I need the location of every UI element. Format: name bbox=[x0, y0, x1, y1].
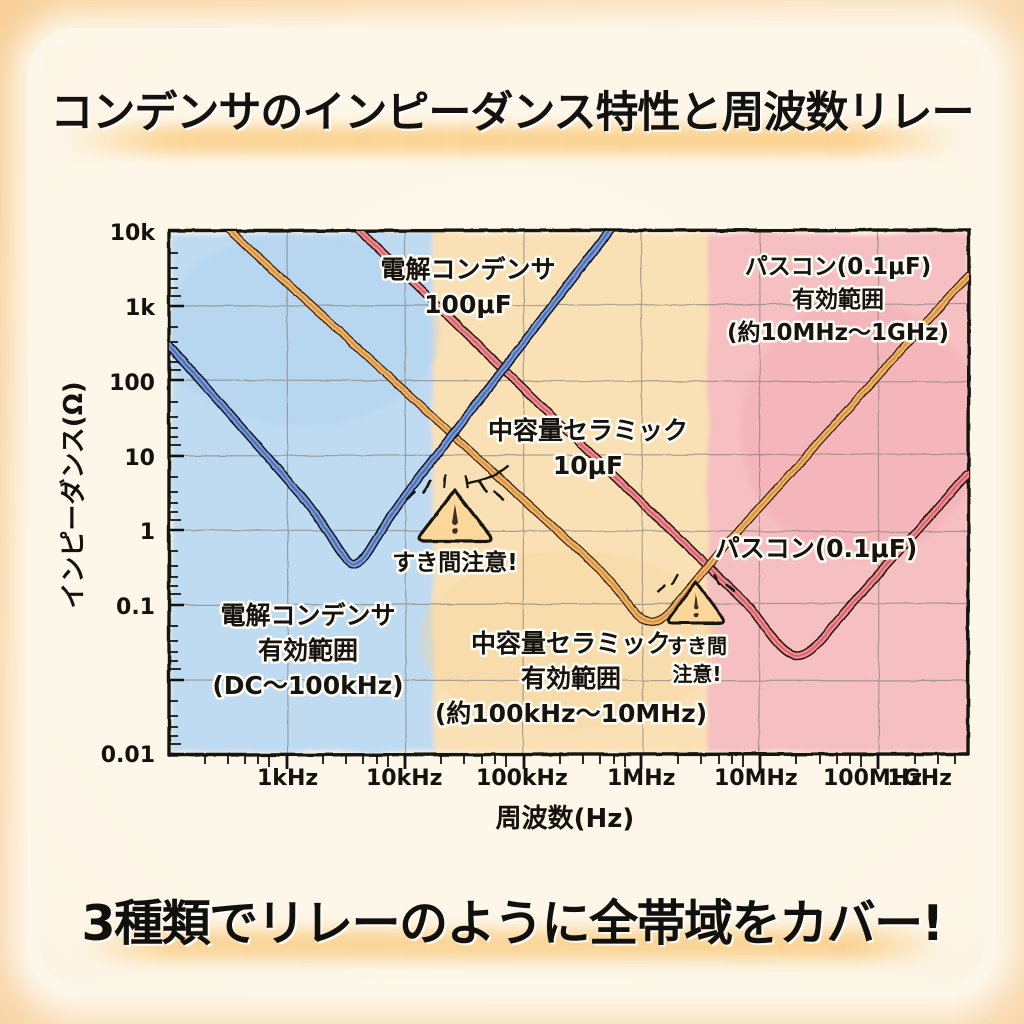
y-tick-labels: 10k 1k 100 10 1 0.1 0.01 bbox=[101, 221, 157, 768]
svg-text:(約10MHz〜1GHz): (約10MHz〜1GHz) bbox=[727, 319, 949, 346]
y-tick-0.1: 0.1 bbox=[116, 595, 155, 620]
svg-text:すき間: すき間 bbox=[667, 634, 727, 658]
svg-text:中容量セラミック: 中容量セラミック bbox=[488, 416, 688, 445]
svg-text:中容量セラミック: 中容量セラミック bbox=[471, 629, 671, 658]
x-axis-title: 周波数(Hz) bbox=[496, 804, 635, 834]
svg-text:電解コンデンサ: 電解コンデンサ bbox=[380, 255, 555, 284]
y-tick-1k: 1k bbox=[125, 296, 156, 321]
svg-text:100μF: 100μF bbox=[424, 290, 512, 319]
svg-text:(DC〜100kHz): (DC〜100kHz) bbox=[212, 671, 403, 700]
annotation-bypass-curve: パスコン(0.1μF) bbox=[715, 534, 918, 563]
y-tick-1: 1 bbox=[140, 520, 155, 545]
svg-text:パスコン(0.1μF): パスコン(0.1μF) bbox=[715, 534, 918, 563]
svg-text:有効範囲: 有効範囲 bbox=[258, 636, 358, 665]
y-tick-10: 10 bbox=[124, 446, 155, 471]
y-axis-title: インピーダンス(Ω) bbox=[58, 381, 89, 608]
svg-text:パスコン(0.1μF): パスコン(0.1μF) bbox=[745, 254, 931, 280]
x-tick-100khz: 100kHz bbox=[476, 766, 568, 791]
impedance-chart: 10k 1k 100 10 1 0.1 0.01 1kHz 10kHz 100k… bbox=[0, 0, 1024, 1024]
x-tick-10mhz: 10MHz bbox=[714, 766, 798, 791]
svg-text:(約100kHz〜10MHz): (約100kHz〜10MHz) bbox=[435, 699, 707, 728]
svg-text:電解コンデンサ: 電解コンデンサ bbox=[220, 601, 395, 630]
svg-text:有効範囲: 有効範囲 bbox=[521, 664, 621, 693]
x-tick-labels: 1kHz 10kHz 100kHz 1MHz 10MHz 100MHz 1GHz bbox=[257, 766, 952, 791]
x-tick-10khz: 10kHz bbox=[366, 766, 442, 791]
svg-text:10μF: 10μF bbox=[553, 451, 623, 480]
svg-text:注意!: 注意! bbox=[672, 662, 721, 686]
svg-text:すき間注意!: すき間注意! bbox=[392, 549, 518, 576]
y-tick-100: 100 bbox=[109, 371, 155, 396]
svg-text:有効範囲: 有効範囲 bbox=[792, 286, 884, 313]
x-tick-1mhz: 1MHz bbox=[607, 766, 675, 791]
y-tick-0.01: 0.01 bbox=[101, 743, 155, 768]
y-tick-10k: 10k bbox=[110, 221, 157, 246]
x-tick-1khz: 1kHz bbox=[257, 766, 318, 791]
x-tick-1ghz: 1GHz bbox=[887, 766, 952, 791]
